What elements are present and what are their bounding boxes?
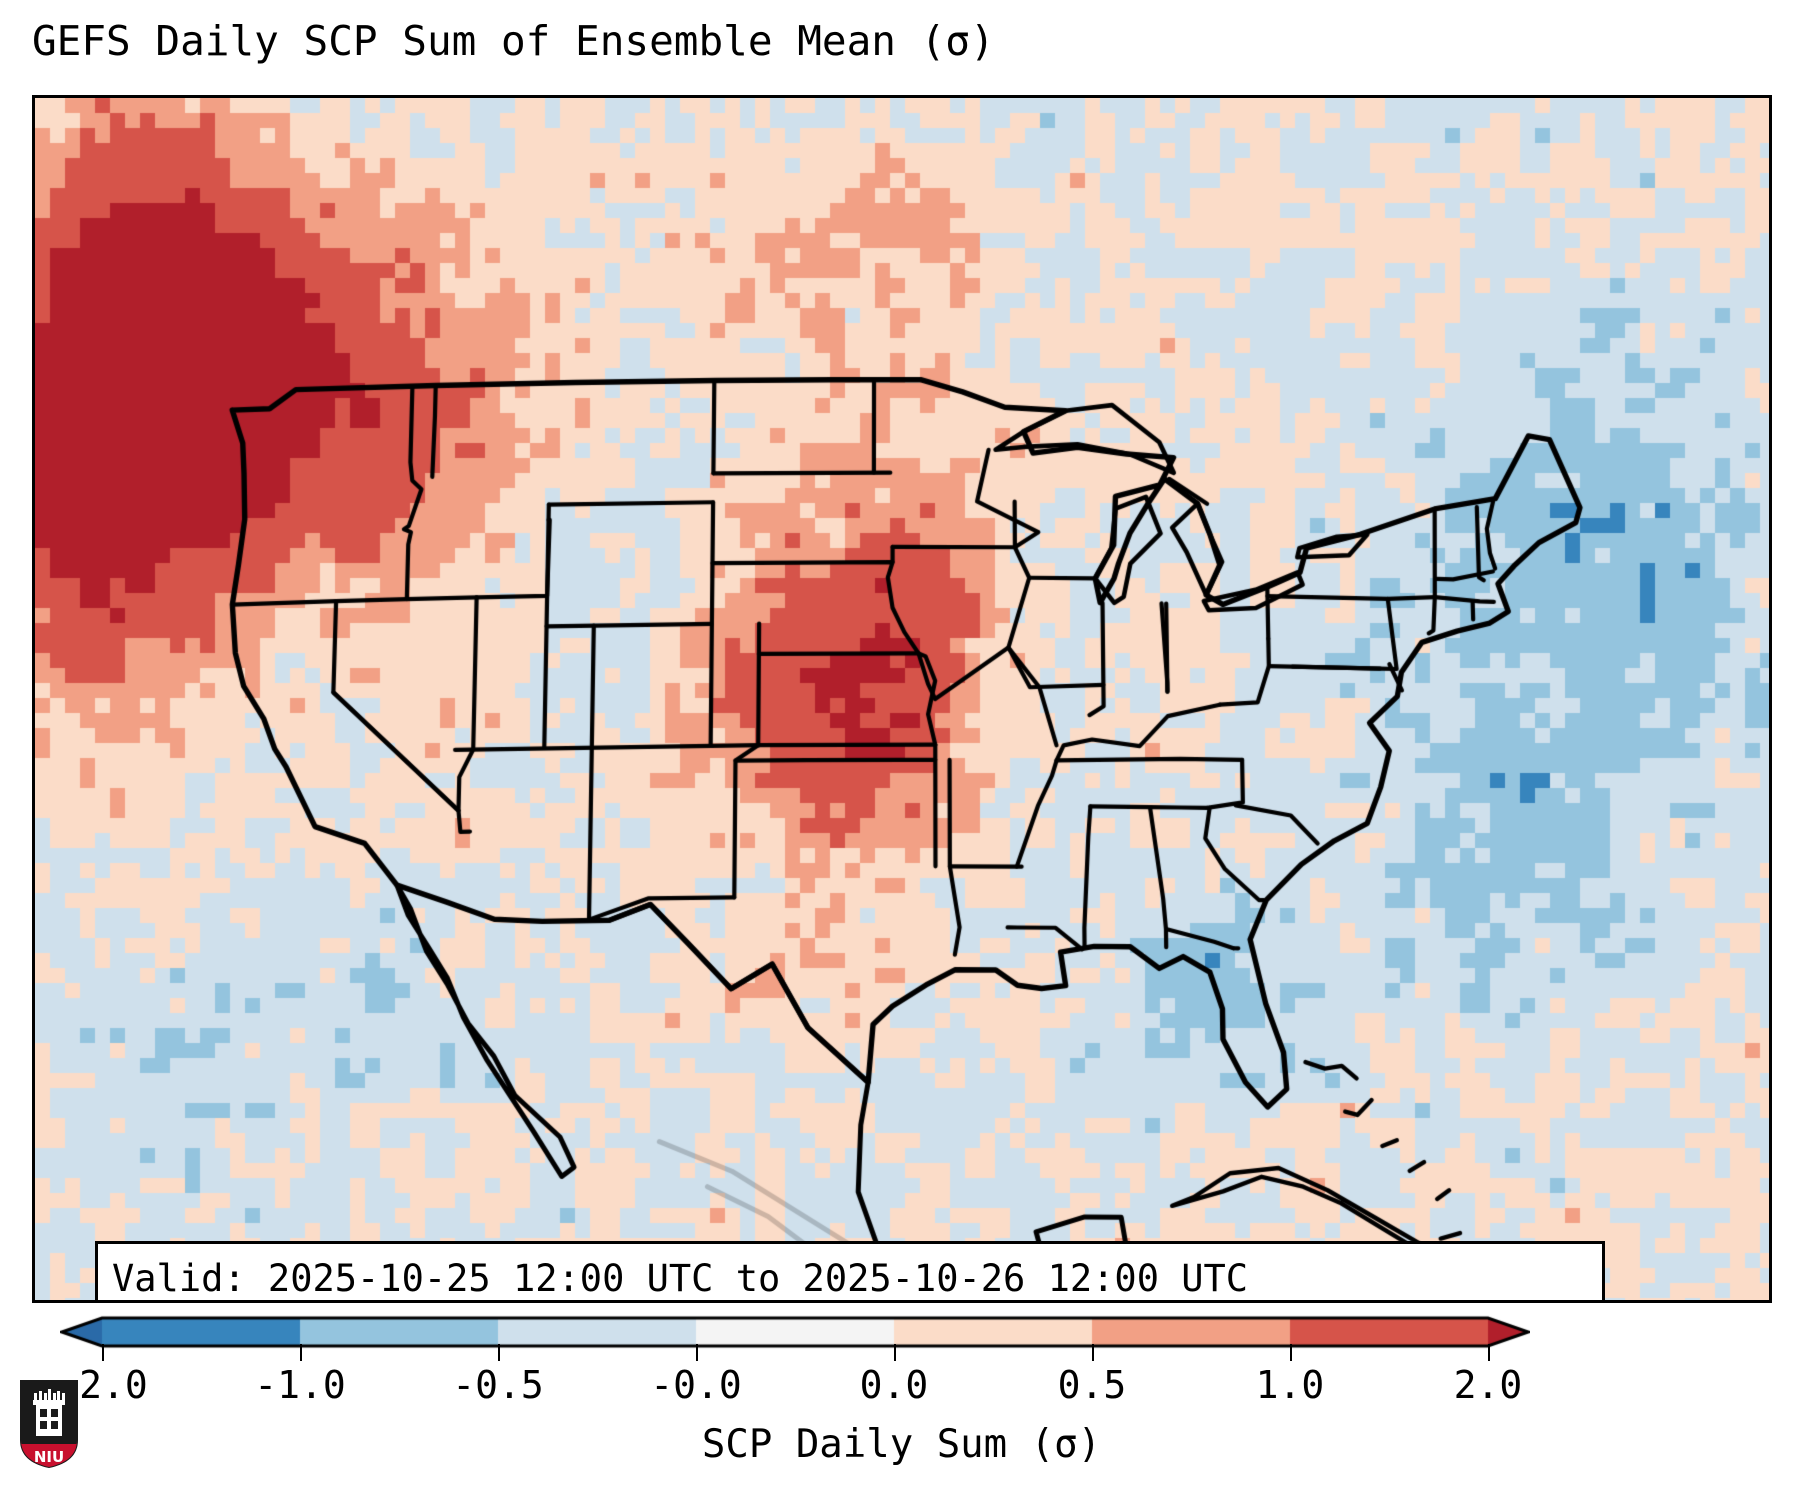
colorbar-tick xyxy=(1488,1344,1490,1361)
colorbar-axis-label: SCP Daily Sum (σ) xyxy=(0,1422,1803,1467)
colorbar: -2.0-1.0-0.5-0.00.00.51.02.0 SCP Daily S… xyxy=(0,1300,1803,1506)
colorbar-tick xyxy=(1290,1344,1292,1361)
colorbar-tick-label: -0.0 xyxy=(650,1362,742,1408)
colorbar-tick-label: 0.0 xyxy=(860,1362,929,1408)
colorbar-tick xyxy=(498,1344,500,1361)
colorbar-tick-label: 1.0 xyxy=(1256,1362,1325,1408)
colorbar-gradient xyxy=(60,1312,1530,1352)
niu-logo-text: NIU xyxy=(34,1448,64,1466)
niu-logo: NIU xyxy=(18,1378,80,1470)
colorbar-tick xyxy=(696,1344,698,1361)
colorbar-tick-label: -0.5 xyxy=(452,1362,544,1408)
colorbar-tick xyxy=(1092,1344,1094,1361)
colorbar-tick-label: 2.0 xyxy=(1454,1362,1523,1408)
colorbar-tick-label: 0.5 xyxy=(1058,1362,1127,1408)
page-title: GEFS Daily SCP Sum of Ensemble Mean (σ) xyxy=(32,14,995,68)
info-box: Valid: 2025-10-25 12:00 UTC to 2025-10-2… xyxy=(95,1241,1605,1303)
map-plot-area: Valid: 2025-10-25 12:00 UTC to 2025-10-2… xyxy=(32,95,1772,1303)
colorbar-tick-label: -1.0 xyxy=(254,1362,346,1408)
colorbar-tick xyxy=(894,1344,896,1361)
colorbar-tick xyxy=(300,1344,302,1361)
valid-time-text: Valid: 2025-10-25 12:00 UTC to 2025-10-2… xyxy=(112,1252,1588,1303)
map-heatmap-canvas xyxy=(35,98,1769,1300)
colorbar-tick xyxy=(102,1344,104,1361)
